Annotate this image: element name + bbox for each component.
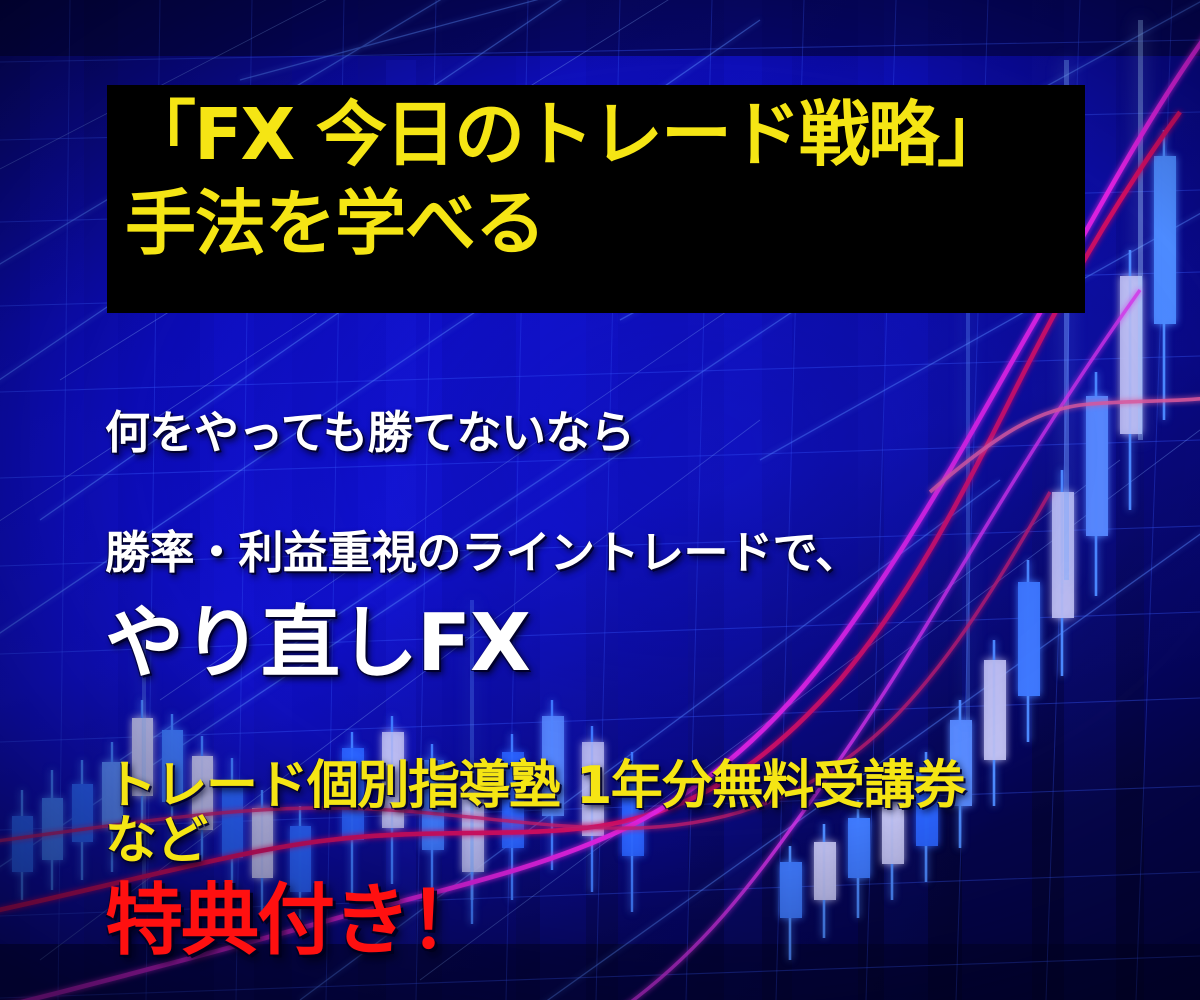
product-name: やり直しFX — [105, 578, 530, 693]
fx-promo-banner: 「FX 今日のトレード戦略」 手法を学べる 何をやっても勝てないなら 勝率・利益… — [0, 0, 1200, 1000]
headline-box: 「FX 今日のトレード戦略」 手法を学べる — [107, 85, 1085, 313]
body-question-line: 何をやっても勝てないなら — [105, 396, 635, 461]
bonus-line-1: トレード個別指導塾 1年分無料受講券 — [105, 743, 964, 818]
headline-line-2: 手法を学べる — [125, 170, 1085, 259]
headline-line-1: 「FX 今日のトレード戦略」 — [125, 91, 1085, 170]
bonus-highlight: 特典付き！ — [105, 858, 485, 970]
body-subhead-line: 勝率・利益重視のライントレードで、 — [105, 516, 860, 581]
